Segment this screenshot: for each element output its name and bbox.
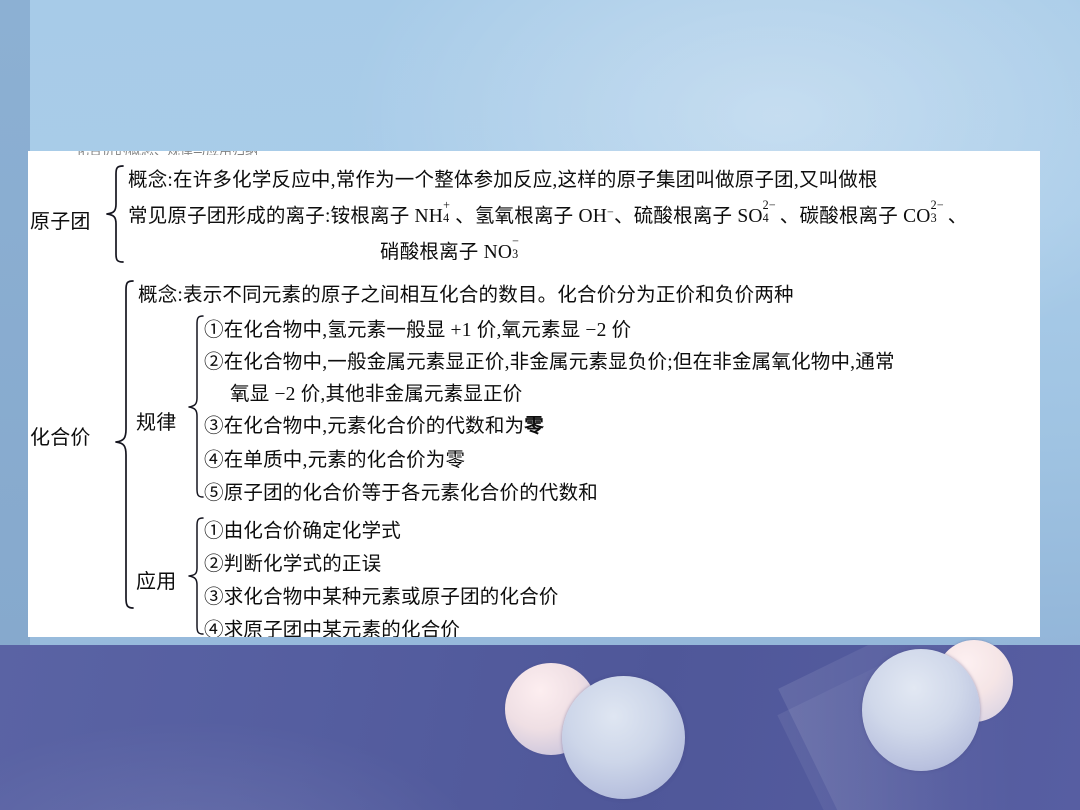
valence-rule-5: ⑤原子团的化合价等于各元素化合价的代数和 <box>204 476 598 505</box>
valence-rule-1-marker: ① <box>204 320 224 341</box>
valence-application-3-marker: ③ <box>204 587 224 608</box>
slide-canvas: 化合价的概念、规律与应用归纳 原子团 概念:在许多化学反应中,常作为一个整体参加… <box>0 0 1080 810</box>
content-panel: 化合价的概念、规律与应用归纳 原子团 概念:在许多化学反应中,常作为一个整体参加… <box>28 151 1040 637</box>
valence-application-2-text: 判断化学式的正误 <box>224 554 382 575</box>
atomic-group-concept-line: 概念:在许多化学反应中,常作为一个整体参加反应,这样的原子集团叫做原子团,又叫做… <box>128 163 878 192</box>
valence-rule-3-marker: ③ <box>204 416 224 437</box>
section-label-valence: 化合价 <box>30 421 91 450</box>
valence-rule-4-marker: ④ <box>204 450 224 471</box>
background-left-band <box>0 0 30 645</box>
valence-rule-3-emphasis: 零 <box>524 416 544 437</box>
valence-application-2: ②判断化学式的正误 <box>204 547 381 576</box>
valence-application-1-marker: ① <box>204 521 224 542</box>
valence-application-3-text: 求化合物中某种元素或原子团的化合价 <box>224 587 559 608</box>
valence-application-4-marker: ④ <box>204 620 224 637</box>
section-label-atomic-group: 原子团 <box>30 205 91 234</box>
valence-rule-2-marker: ② <box>204 352 224 373</box>
valence-rule-2-text: 在化合物中,一般金属元素显正价,非金属元素显负价;但在非金属氧化物中,通常 <box>224 352 895 373</box>
valence-rule-5-text: 原子团的化合价等于各元素化合价的代数和 <box>224 483 598 504</box>
decorative-sphere-blue-right <box>862 649 980 771</box>
valence-rule-5-marker: ⑤ <box>204 483 224 504</box>
valence-application-2-marker: ② <box>204 554 224 575</box>
valence-rules-label: 规律 <box>136 406 176 435</box>
panel-body: 原子团 概念:在许多化学反应中,常作为一个整体参加反应,这样的原子集团叫做原子团… <box>28 151 1040 637</box>
valence-application-4-text: 求原子团中某元素的化合价 <box>224 620 460 637</box>
brace-valence-rules <box>186 314 206 499</box>
valence-rule-1: ①在化合物中,氢元素一般显 +1 价,氧元素显 −2 价 <box>204 313 631 342</box>
brace-valence-applications <box>186 516 206 636</box>
valence-rule-2: ②在化合物中,一般金属元素显正价,非金属元素显负价;但在非金属氧化物中,通常 <box>204 345 895 374</box>
brace-valence-outer <box>112 279 136 611</box>
valence-rule-2-cont: 氧显 −2 价,其他非金属元素显正价 <box>230 377 522 406</box>
valence-application-1-text: 由化合价确定化学式 <box>224 521 401 542</box>
decorative-sphere-blue-left <box>562 676 685 799</box>
valence-application-3: ③求化合物中某种元素或原子团的化合价 <box>204 580 559 609</box>
valence-rule-3: ③在化合物中,元素化合价的代数和为零 <box>204 409 544 438</box>
valence-rule-3-text: 在化合物中,元素化合价的代数和为 <box>224 416 525 437</box>
atomic-group-ions-line2: 硝酸根离子 NO−3 <box>380 235 524 264</box>
valence-rule-4: ④在单质中,元素的化合价为零 <box>204 443 465 472</box>
atomic-group-ions-line1: 常见原子团形成的离子:铵根离子 NH+4、氢氧根离子 OH−、硫酸根离子 SO2… <box>128 199 967 228</box>
valence-application-1: ①由化合价确定化学式 <box>204 514 401 543</box>
valence-application-4: ④求原子团中某元素的化合价 <box>204 613 460 637</box>
valence-applications-label: 应用 <box>136 565 176 594</box>
brace-atomic-group <box>104 164 126 264</box>
valence-rule-4-text: 在单质中,元素的化合价为零 <box>224 450 465 471</box>
valence-rule-1-text: 在化合物中,氢元素一般显 +1 价,氧元素显 −2 价 <box>224 320 632 341</box>
valence-concept-line: 概念:表示不同元素的原子之间相互化合的数目。化合价分为正价和负价两种 <box>138 278 794 307</box>
